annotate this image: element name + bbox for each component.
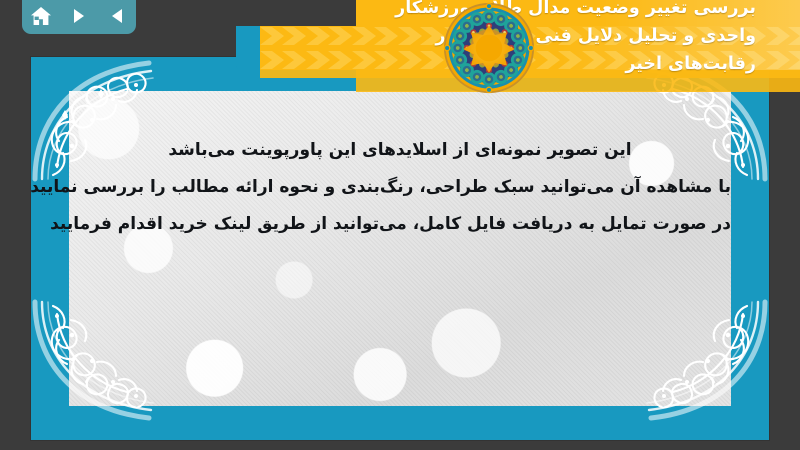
body-line-2: با مشاهده آن می‌توانید سبک طراحی، رنگ‌بن…	[69, 169, 731, 206]
navigation-panel	[22, 0, 136, 34]
back-button[interactable]	[103, 3, 131, 29]
home-button[interactable]	[27, 3, 55, 29]
body-line-3: در صورت تمایل به دریافت فایل کامل، می‌تو…	[69, 206, 731, 243]
forward-button[interactable]	[65, 3, 93, 29]
slide-stage: این تصویر نمونه‌ای از اسلایدهای این پاور…	[0, 0, 800, 450]
persian-rosette-medallion-icon	[443, 2, 535, 94]
triangle-left-icon	[108, 7, 126, 25]
home-icon	[30, 6, 52, 26]
slide-body-text: این تصویر نمونه‌ای از اسلایدهای این پاور…	[69, 132, 731, 243]
content-frame	[31, 57, 769, 440]
triangle-right-icon	[70, 7, 88, 25]
body-line-1: این تصویر نمونه‌ای از اسلایدهای این پاور…	[69, 132, 731, 169]
